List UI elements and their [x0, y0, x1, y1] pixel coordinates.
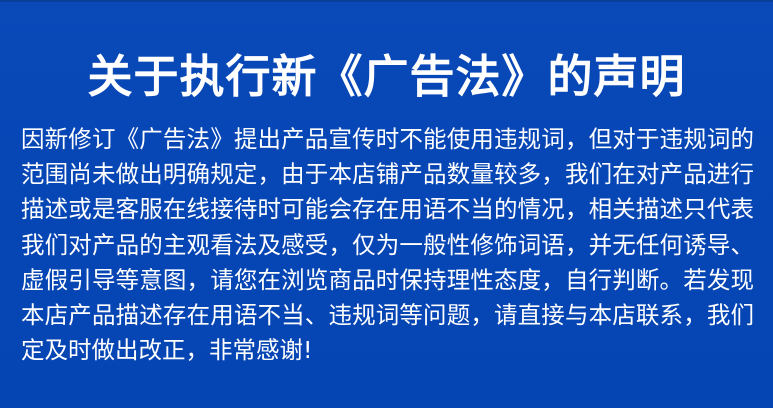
notice-body-text: 因新修订《广告法》提出产品宣传时不能使用违规词，但对于违规词的范围尚未做出明确规…: [16, 105, 757, 368]
advertising-law-notice-banner: 关于执行新《广告法》的声明 因新修订《广告法》提出产品宣传时不能使用违规词，但对…: [0, 0, 773, 408]
banner-content-container: 关于执行新《广告法》的声明 因新修订《广告法》提出产品宣传时不能使用违规词，但对…: [0, 2, 773, 408]
notice-title: 关于执行新《广告法》的声明: [16, 2, 757, 105]
